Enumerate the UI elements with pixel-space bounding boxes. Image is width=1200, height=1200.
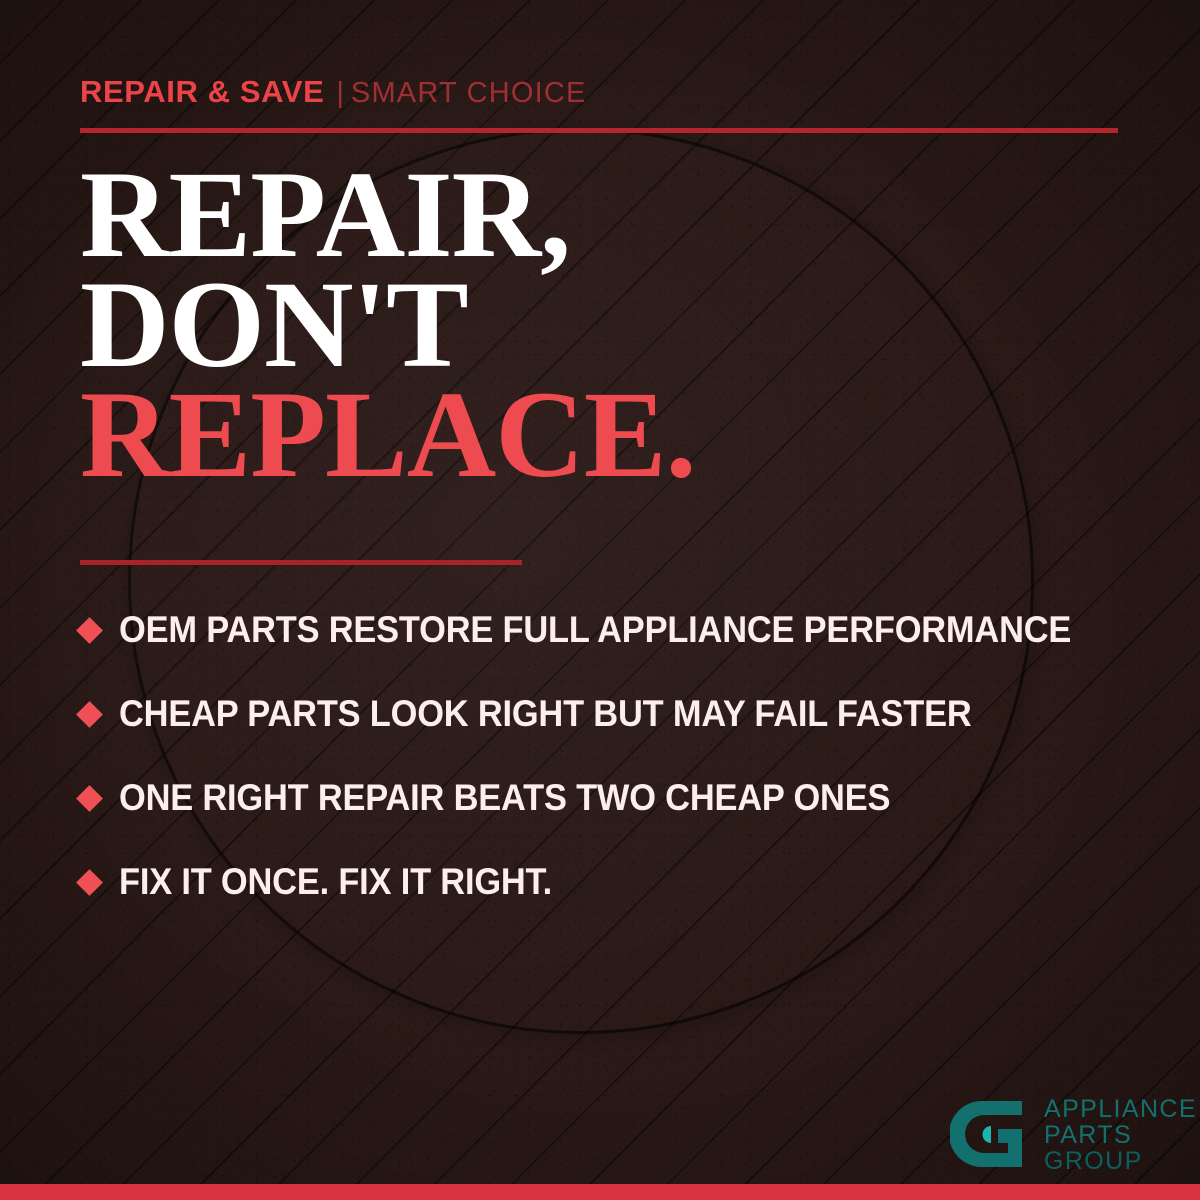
list-item-label: FIX IT ONCE. FIX IT RIGHT. — [119, 861, 552, 903]
diamond-bullet-icon — [76, 785, 103, 812]
headline-line-2: DON'T — [80, 270, 696, 380]
list-item: ONE RIGHT REPAIR BEATS TWO CHEAP ONES — [80, 756, 1140, 840]
benefit-list: OEM PARTS RESTORE FULL APPLIANCE PERFORM… — [80, 588, 1140, 924]
brand-logo-wordmark: APPLIANCE PARTS GROUP — [1044, 1093, 1197, 1174]
brand-word-appliance: APPLIANCE — [1044, 1096, 1197, 1122]
eyebrow-strong-text: REPAIR & SAVE — [80, 74, 324, 110]
bottom-accent-bar — [0, 1184, 1200, 1200]
poster-content: REPAIR & SAVE | SMART CHOICE REPAIR, DON… — [0, 0, 1200, 1200]
list-item: FIX IT ONCE. FIX IT RIGHT. — [80, 840, 1140, 924]
eyebrow-light-text: SMART CHOICE — [351, 77, 587, 110]
g-monogram-icon — [950, 1093, 1032, 1175]
eyebrow-header: REPAIR & SAVE | SMART CHOICE — [80, 74, 587, 110]
diamond-bullet-icon — [76, 869, 103, 896]
list-item-label: OEM PARTS RESTORE FULL APPLIANCE PERFORM… — [119, 609, 1071, 651]
list-item-label: CHEAP PARTS LOOK RIGHT BUT MAY FAIL FAST… — [119, 693, 972, 735]
diamond-bullet-icon — [76, 617, 103, 644]
promo-poster: REPAIR & SAVE | SMART CHOICE REPAIR, DON… — [0, 0, 1200, 1200]
diamond-bullet-icon — [76, 701, 103, 728]
brand-logo: APPLIANCE PARTS GROUP — [950, 1093, 1197, 1175]
eyebrow-separator: | — [336, 77, 344, 110]
list-item-label: ONE RIGHT REPAIR BEATS TWO CHEAP ONES — [119, 777, 890, 819]
list-item: OEM PARTS RESTORE FULL APPLIANCE PERFORM… — [80, 588, 1140, 672]
brand-word-group: GROUP — [1044, 1148, 1197, 1174]
headline-line-3: REPLACE. — [80, 380, 696, 490]
header-divider-rule — [80, 128, 1118, 133]
brand-word-parts: PARTS — [1044, 1122, 1197, 1148]
list-item: CHEAP PARTS LOOK RIGHT BUT MAY FAIL FAST… — [80, 672, 1140, 756]
page-title: REPAIR, DON'T REPLACE. — [80, 160, 696, 490]
headline-line-1: REPAIR, — [80, 160, 696, 270]
headline-divider-rule — [80, 560, 522, 565]
